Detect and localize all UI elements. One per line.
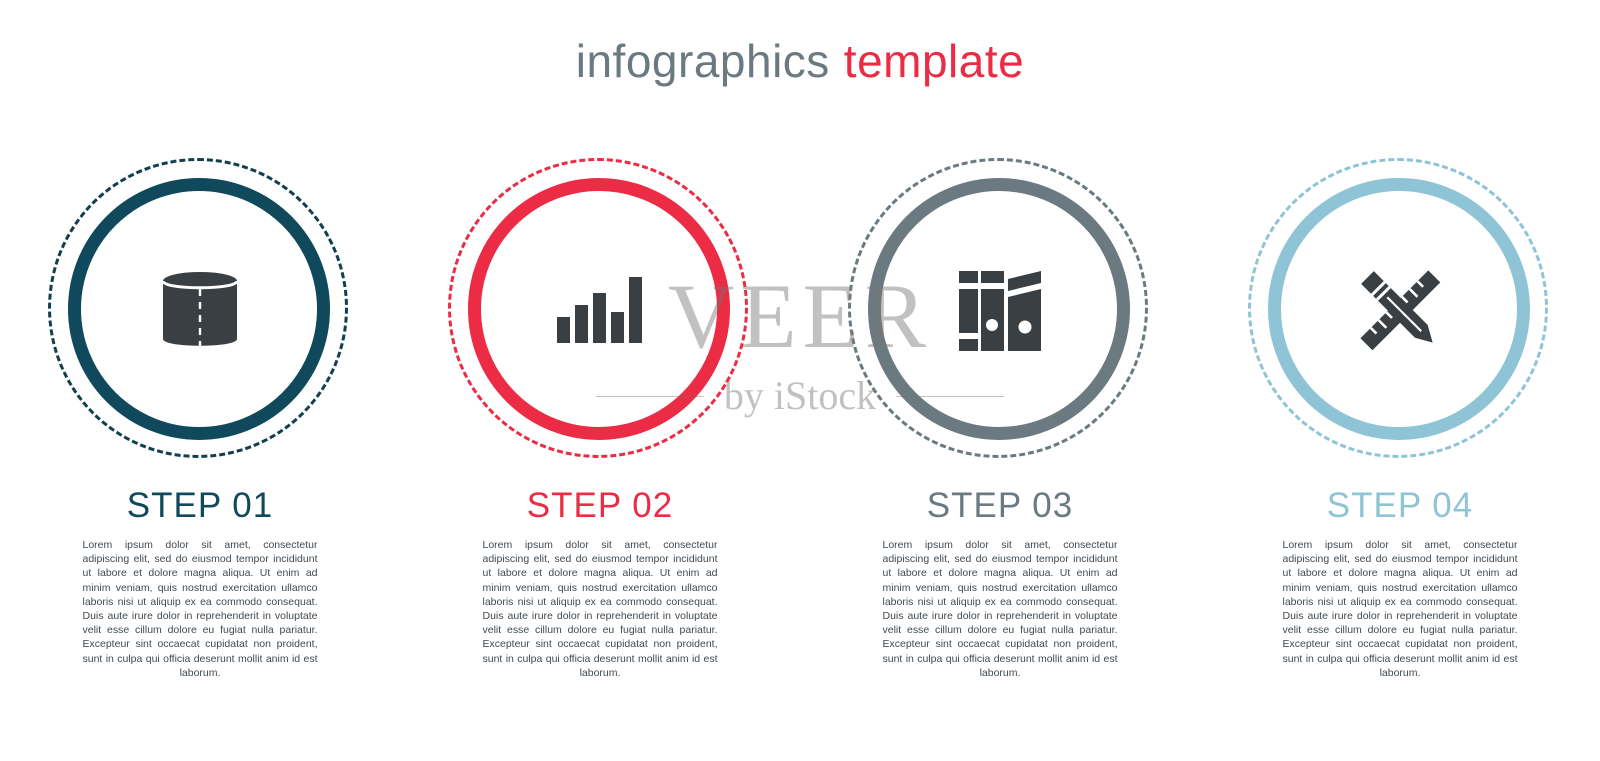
page-title-part-2: template — [844, 35, 1024, 87]
step-card-02[interactable]: STEP 02 Lorem ipsum dolor sit amet, cons… — [400, 150, 800, 680]
step-02-icon-holder — [440, 150, 760, 470]
step-card-01[interactable]: STEP 01 Lorem ipsum dolor sit amet, cons… — [0, 150, 400, 680]
step-02-body: Lorem ipsum dolor sit amet, consectetur … — [483, 538, 718, 680]
step-01-label: STEP 01 — [0, 486, 400, 526]
step-02-circle — [440, 150, 760, 470]
step-02-label: STEP 02 — [400, 486, 800, 526]
bar-chart-icon — [545, 255, 655, 365]
step-03-body: Lorem ipsum dolor sit amet, consectetur … — [883, 538, 1118, 680]
page-title: infographicstemplate — [0, 34, 1600, 88]
step-01-body: Lorem ipsum dolor sit amet, consectetur … — [83, 538, 318, 680]
step-03-icon-holder — [840, 150, 1160, 470]
binders-icon — [945, 255, 1055, 365]
step-04-icon-holder — [1240, 150, 1560, 470]
step-card-03[interactable]: STEP 03 Lorem ipsum dolor sit amet, cons… — [800, 150, 1200, 680]
step-01-icon-holder — [40, 150, 360, 470]
step-04-label: STEP 04 — [1200, 486, 1600, 526]
step-03-label: STEP 03 — [800, 486, 1200, 526]
step-04-body: Lorem ipsum dolor sit amet, consectetur … — [1283, 538, 1518, 680]
steps-row: STEP 01 Lorem ipsum dolor sit amet, cons… — [0, 150, 1600, 680]
cylinder-icon — [145, 255, 255, 365]
step-03-circle — [840, 150, 1160, 470]
step-card-04[interactable]: STEP 04 Lorem ipsum dolor sit amet, cons… — [1200, 150, 1600, 680]
pencil-ruler-icon — [1344, 254, 1456, 366]
page-title-part-1: infographics — [576, 35, 830, 87]
step-01-circle — [40, 150, 360, 470]
step-04-circle — [1240, 150, 1560, 470]
